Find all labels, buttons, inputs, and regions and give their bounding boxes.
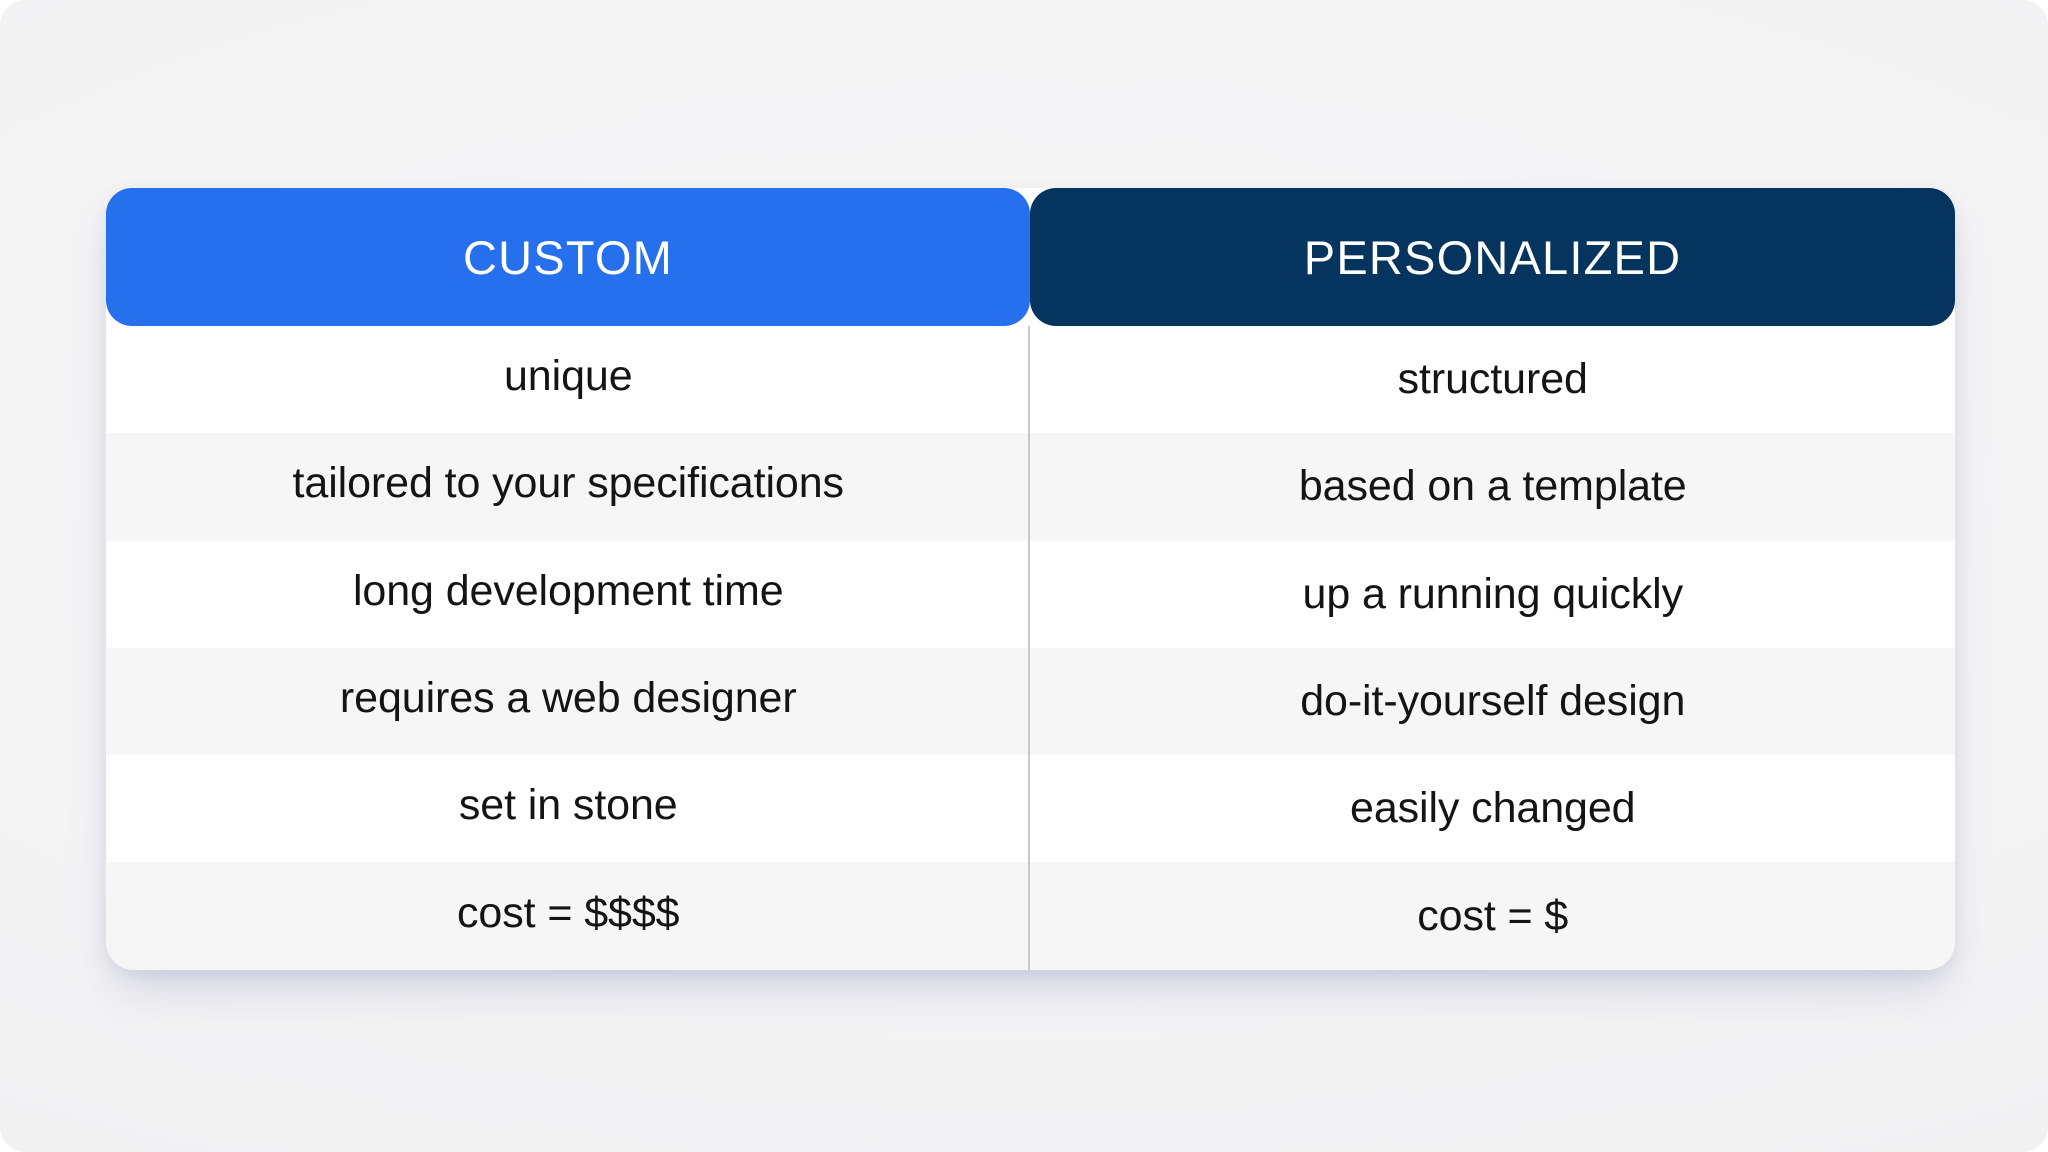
cell-personalized: based on a template xyxy=(1031,433,1956,540)
cell-custom: long development time xyxy=(106,541,1031,648)
comparison-table-body: unique structured tailored to your speci… xyxy=(106,326,1955,970)
cell-custom: tailored to your specifications xyxy=(106,433,1031,540)
cell-personalized: cost = $ xyxy=(1031,862,1956,969)
cell-custom: cost = $$$$ xyxy=(106,862,1031,969)
table-row: unique structured xyxy=(106,326,1955,433)
page-viewport: unique structured tailored to your speci… xyxy=(0,0,2048,1152)
column-header-custom-label: CUSTOM xyxy=(463,234,673,281)
cell-custom: unique xyxy=(106,326,1031,433)
cell-personalized: do-it-yourself design xyxy=(1031,648,1956,755)
table-row: cost = $$$$ cost = $ xyxy=(106,862,1955,969)
table-row: long development time up a running quick… xyxy=(106,541,1955,648)
table-row: set in stone easily changed xyxy=(106,755,1955,862)
table-row: tailored to your specifications based on… xyxy=(106,433,1955,540)
table-row: requires a web designer do-it-yourself d… xyxy=(106,648,1955,755)
cell-custom: requires a web designer xyxy=(106,648,1031,755)
column-header-personalized-label: PERSONALIZED xyxy=(1304,234,1681,281)
cell-personalized: easily changed xyxy=(1031,755,1956,862)
cell-personalized: up a running quickly xyxy=(1031,541,1956,648)
cell-personalized: structured xyxy=(1031,326,1956,433)
column-header-custom: CUSTOM xyxy=(106,188,1030,326)
column-header-personalized: PERSONALIZED xyxy=(1030,188,1955,326)
cell-custom: set in stone xyxy=(106,755,1031,862)
